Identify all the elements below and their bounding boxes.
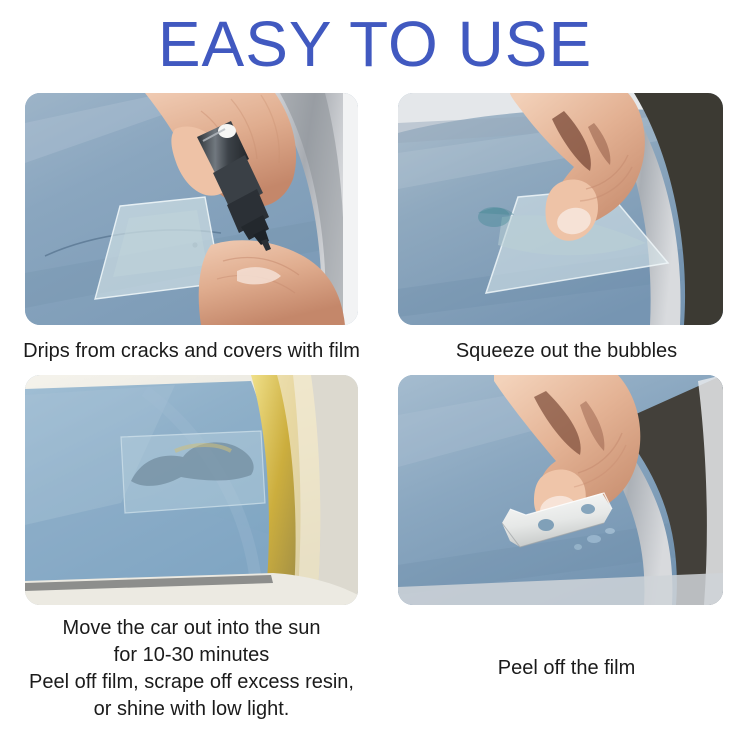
- caption-line: Move the car out into the sun: [0, 615, 383, 642]
- resin-droplet: [587, 535, 601, 543]
- step-3-illustration: [25, 375, 358, 605]
- clear-film-patch: [121, 431, 265, 513]
- step-1-illustration: [25, 93, 358, 325]
- step-3-caption: Move the car out into the sun for 10-30 …: [0, 615, 383, 723]
- step-2-image: [398, 93, 723, 325]
- step-1-image: [25, 93, 358, 325]
- caption-line: Squeeze out the bubbles: [383, 338, 750, 365]
- step-4-illustration: [398, 375, 723, 605]
- step-2-illustration: [398, 93, 723, 325]
- resin-droplet: [574, 544, 582, 550]
- caption-line: Peel off the film: [383, 655, 750, 682]
- step-4-caption: Peel off the film: [383, 655, 750, 682]
- page-title: EASY TO USE: [0, 8, 750, 80]
- step-3-image: [25, 375, 358, 605]
- caption-line: or shine with low light.: [0, 696, 383, 723]
- caption-line: Peel off film, scrape off excess resin,: [0, 669, 383, 696]
- blade-hole: [538, 519, 554, 531]
- step-2-caption: Squeeze out the bubbles: [383, 338, 750, 365]
- step-1-caption: Drips from cracks and covers with film: [0, 338, 383, 365]
- caption-line: Drips from cracks and covers with film: [0, 338, 383, 365]
- caption-line: for 10-30 minutes: [0, 642, 383, 669]
- resin-droplet: [605, 528, 615, 534]
- window-highlight: [343, 93, 358, 325]
- blade-hole: [581, 504, 595, 514]
- step-4-image: [398, 375, 723, 605]
